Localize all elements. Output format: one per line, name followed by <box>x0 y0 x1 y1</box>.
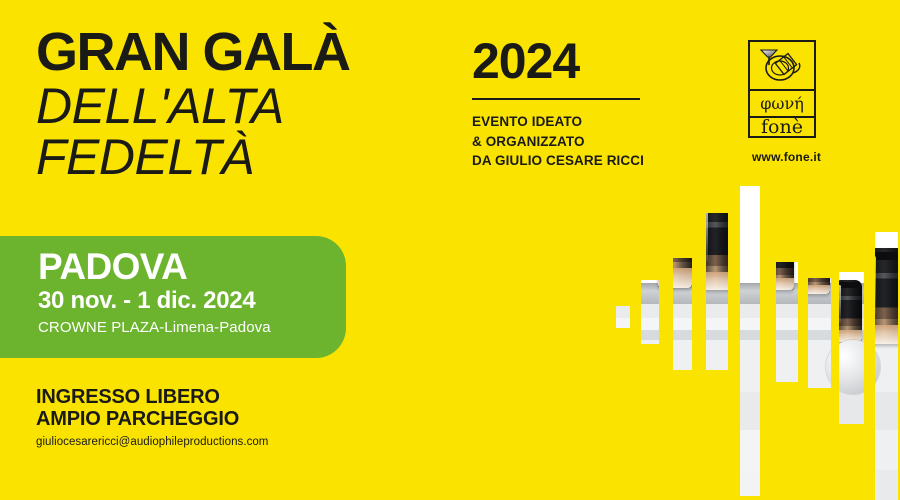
headline-line-3: FEDELTÀ <box>36 132 456 183</box>
event-year: 2024 <box>472 36 682 86</box>
fone-logo[interactable]: φωνή fonè www.fone.it <box>748 40 878 164</box>
credit-line-3: DA GIULIO CESARE RICCI <box>472 151 682 171</box>
logo-greek-word: φωνή <box>750 91 814 118</box>
photo-strip: TAVE SC350 <box>616 306 630 328</box>
year-credits-block: 2024 EVENTO IDEATO & ORGANIZZATO DA GIUL… <box>472 36 682 171</box>
headline-line-2: DELL'ALTA <box>36 81 456 132</box>
poster-canvas: TAVE SC350 <box>0 0 900 500</box>
photo-strip <box>776 262 798 382</box>
photo-strip <box>839 272 864 424</box>
photo-strip <box>875 232 898 500</box>
event-city: PADOVA <box>38 248 346 286</box>
headline-line-1: GRAN GALÀ <box>36 26 456 79</box>
photo-strip <box>808 278 831 388</box>
poster-footer: INGRESSO LIBERO AMPIO PARCHEGGIO giulioc… <box>36 386 268 448</box>
event-dates: 30 nov. - 1 dic. 2024 <box>38 287 346 315</box>
logo-frame: φωνή fonè <box>748 40 816 138</box>
photo-strip <box>706 213 728 370</box>
logo-website[interactable]: www.fone.it <box>752 150 878 164</box>
credit-line-2: & ORGANIZZATO <box>472 132 682 152</box>
event-location-card: PADOVA 30 nov. - 1 dic. 2024 CROWNE PLAZ… <box>0 236 346 358</box>
poster-headline: GRAN GALÀ DELL'ALTA FEDELTÀ <box>36 26 456 183</box>
logo-wordmark: fonè <box>750 118 814 137</box>
event-credits: EVENTO IDEATO & ORGANIZZATO DA GIULIO CE… <box>472 112 682 171</box>
photo-strip <box>740 186 760 496</box>
year-divider <box>472 98 640 100</box>
contact-email[interactable]: giuliocesarericci@audiophileproductions.… <box>36 436 268 448</box>
footer-line-2: AMPIO PARCHEGGIO <box>36 408 268 430</box>
french-horn-icon <box>750 42 814 91</box>
photo-strip <box>641 280 659 344</box>
footer-line-1: INGRESSO LIBERO <box>36 386 268 408</box>
credit-line-1: EVENTO IDEATO <box>472 112 682 132</box>
photo-strip <box>673 258 692 370</box>
amplifier-image: TAVE SC350 <box>616 306 630 328</box>
event-venue: CROWNE PLAZA-Limena-Padova <box>38 319 346 337</box>
